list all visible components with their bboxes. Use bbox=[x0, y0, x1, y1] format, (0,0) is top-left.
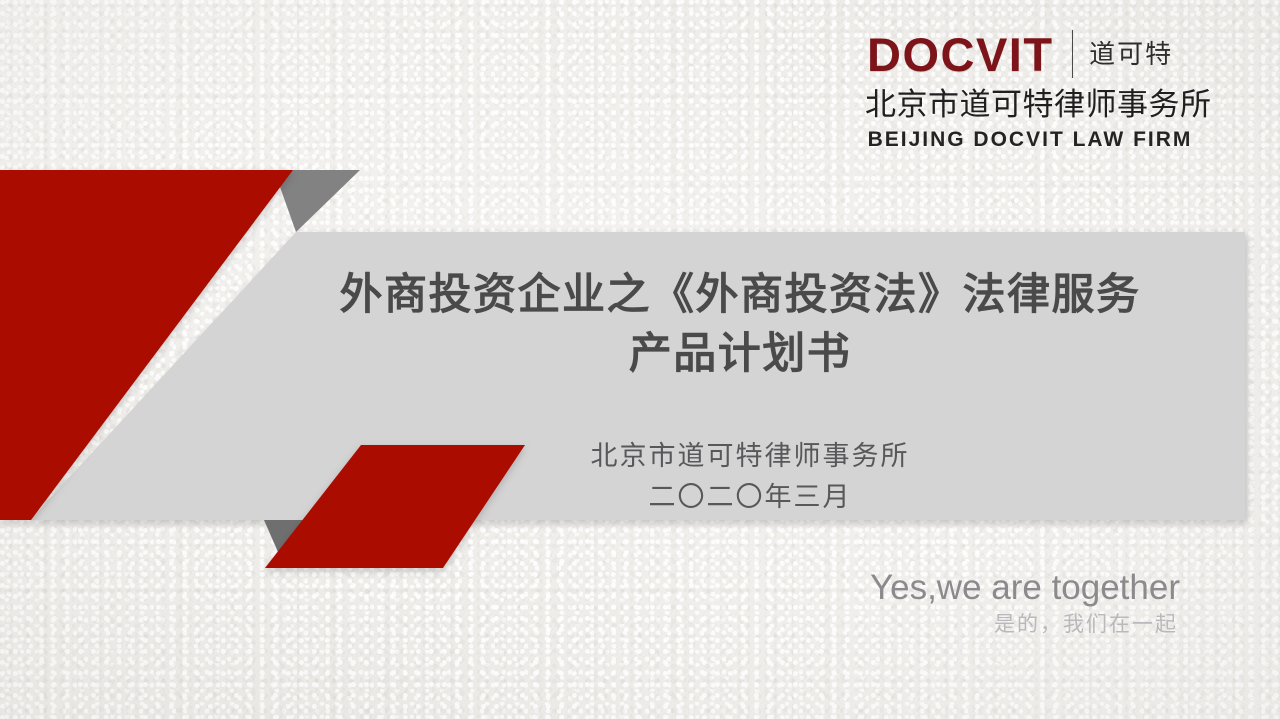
slide-subtitle: 北京市道可特律师事务所 二〇二〇年三月 bbox=[350, 436, 1150, 518]
subtitle-date: 二〇二〇年三月 bbox=[350, 477, 1150, 518]
tagline-english: Yes,we are together bbox=[700, 568, 1180, 607]
slide-tagline: Yes,we are together 是的，我们在一起 bbox=[700, 568, 1180, 638]
logo-chinese-full: 北京市道可特律师事务所 bbox=[865, 86, 1195, 124]
logo-english-full: BEIJING DOCVIT LAW FIRM bbox=[865, 127, 1195, 152]
logo-chinese-short: 道可特 bbox=[1089, 41, 1173, 67]
title-line-2: 产品计划书 bbox=[290, 325, 1190, 384]
tagline-chinese: 是的，我们在一起 bbox=[700, 611, 1178, 638]
slide-title: 外商投资企业之《外商投资法》法律服务 产品计划书 bbox=[290, 266, 1190, 385]
firm-logo: DOCVIT 道可特 北京市道可特律师事务所 BEIJING DOCVIT LA… bbox=[865, 26, 1195, 152]
logo-divider-icon bbox=[1072, 30, 1074, 78]
logo-primary-row: DOCVIT 道可特 bbox=[865, 26, 1195, 82]
presentation-slide: DOCVIT 道可特 北京市道可特律师事务所 BEIJING DOCVIT LA… bbox=[0, 0, 1280, 719]
subtitle-organization: 北京市道可特律师事务所 bbox=[350, 436, 1150, 477]
dark-gray-triangle-top bbox=[274, 170, 360, 232]
logo-wordmark: DOCVIT bbox=[867, 31, 1054, 78]
title-line-1: 外商投资企业之《外商投资法》法律服务 bbox=[290, 266, 1190, 325]
